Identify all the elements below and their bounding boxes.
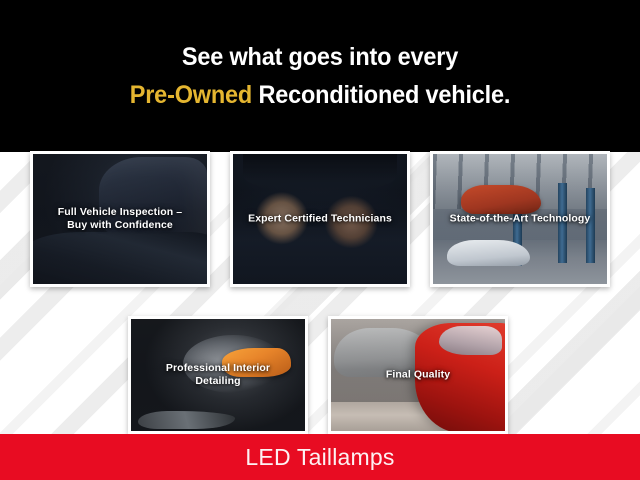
feature-card-professional-interior-detailing[interactable]: Professional Interior Detailing — [128, 316, 308, 434]
promo-graphic: See what goes into every Pre-Owned Recon… — [0, 0, 640, 480]
card-caption-line-1: Professional Interior — [135, 362, 301, 375]
card-caption-line-2: Buy with Confidence — [37, 219, 203, 232]
headline: See what goes into every Pre-Owned Recon… — [0, 43, 640, 110]
card-caption-line-1: State-of-the-Art Technology — [437, 212, 603, 225]
headline-line-1: See what goes into every — [19, 43, 621, 73]
footer-bar: LED Taillamps — [0, 434, 640, 480]
card-caption: Final Quality — [335, 368, 501, 381]
headline-line-2-rest: Reconditioned vehicle. — [252, 81, 510, 109]
header-bottom-curve — [0, 112, 640, 152]
card-caption: Expert Certified Technicians — [237, 212, 403, 225]
card-caption-line-1: Full Vehicle Inspection – — [37, 206, 203, 219]
headline-line-2: Pre-Owned Reconditioned vehicle. — [19, 81, 621, 111]
card-caption-line-1: Final Quality — [335, 368, 501, 381]
headline-highlight: Pre-Owned — [130, 81, 252, 109]
card-caption-line-2: Detailing — [135, 375, 301, 388]
feature-card-state-of-the-art-technology[interactable]: State-of-the-Art Technology — [430, 151, 610, 287]
feature-card-expert-certified-technicians[interactable]: Expert Certified Technicians — [230, 151, 410, 287]
feature-card-full-vehicle-inspection[interactable]: Full Vehicle Inspection – Buy with Confi… — [30, 151, 210, 287]
card-caption: State-of-the-Art Technology — [437, 212, 603, 225]
footer-label: LED Taillamps — [245, 444, 394, 471]
card-caption: Professional Interior Detailing — [135, 362, 301, 388]
feature-card-final-quality[interactable]: Final Quality — [328, 316, 508, 434]
card-caption: Full Vehicle Inspection – Buy with Confi… — [37, 206, 203, 232]
card-caption-line-1: Expert Certified Technicians — [237, 212, 403, 225]
